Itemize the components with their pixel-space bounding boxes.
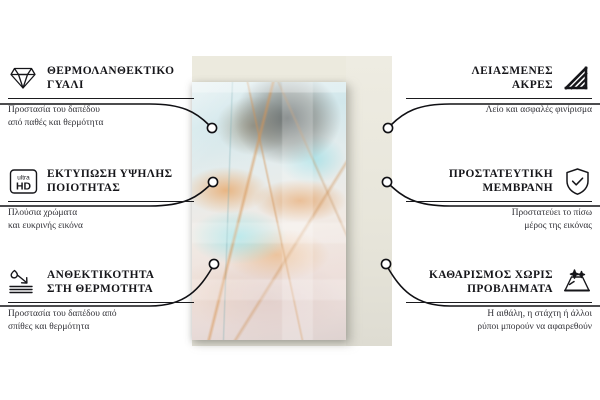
feature-header: ΘΕΡΜΟΛΑΝΘΕΚΤΙΚΟ ΓΥΑΛΙ xyxy=(8,62,194,94)
feature-description: Προστασία του δαπέδου από σπίθες και θερ… xyxy=(8,308,194,334)
feature-easy-cleaning: ΚΑΘΑΡΙΣΜΟΣ ΧΩΡΙΣ ΠΡΟΒΛΗΜΑΤΑ Η αιθάλη, η … xyxy=(406,266,592,334)
feature-divider xyxy=(8,302,194,303)
diamond-icon xyxy=(8,63,38,93)
product-glass-panel xyxy=(192,82,346,340)
feature-description: Πλούσια χρώματα και ευκρινής εικόνα xyxy=(8,207,194,233)
feature-heat-durability: ΑΝΘΕΚΤΙΚΟΤΗΤΑ ΣΤΗ ΘΕΡΜΟΤΗΤΑ Προστασία το… xyxy=(8,266,194,334)
feature-polished-edges: ΛΕΙΑΣΜΕΝΕΣ ΑΚΡΕΣ Λείο και ασφαλές φινίρι… xyxy=(406,62,592,117)
infographic-stage: ΘΕΡΜΟΛΑΝΘΕΚΤΙΚΟ ΓΥΑΛΙ Προστασία του δαπέ… xyxy=(0,0,600,400)
feature-title: ΠΡΟΣΤΑΤΕΥΤΙΚΗ ΜΕΜΒΡΑΝΗ xyxy=(449,167,553,196)
feature-description: Η αιθάλη, η στάχτη ή άλλοι ρύποι μπορούν… xyxy=(406,308,592,334)
feature-header: ΚΑΘΑΡΙΣΜΟΣ ΧΩΡΙΣ ΠΡΟΒΛΗΜΑΤΑ xyxy=(406,266,592,298)
feature-title: ΘΕΡΜΟΛΑΝΘΕΚΤΙΚΟ ΓΥΑΛΙ xyxy=(47,64,174,93)
polished-edges-icon xyxy=(562,63,592,93)
feature-divider xyxy=(406,302,592,303)
feature-header: ΛΕΙΑΣΜΕΝΕΣ ΑΚΡΕΣ xyxy=(406,62,592,94)
ultra-hd-icon-large-label: HD xyxy=(15,181,31,192)
feature-high-quality-print: ultra HD ΕΚΤΥΠΩΣΗ ΥΨΗΛΗΣ ΠΟΙΟΤΗΤΑΣ Πλούσ… xyxy=(8,165,194,233)
feature-header: ultra HD ΕΚΤΥΠΩΣΗ ΥΨΗΛΗΣ ΠΟΙΟΤΗΤΑΣ xyxy=(8,165,194,197)
feature-title: ΑΝΘΕΚΤΙΚΟΤΗΤΑ ΣΤΗ ΘΕΡΜΟΤΗΤΑ xyxy=(47,268,154,297)
easy-cleaning-icon xyxy=(562,267,592,297)
feature-header: ΑΝΘΕΚΤΙΚΟΤΗΤΑ ΣΤΗ ΘΕΡΜΟΤΗΤΑ xyxy=(8,266,194,298)
feature-description: Προστασία του δαπέδου από παθές και θερμ… xyxy=(8,104,194,130)
feature-header: ΠΡΟΣΤΑΤΕΥΤΙΚΗ ΜΕΜΒΡΑΝΗ xyxy=(406,165,592,197)
product-backdrop-right xyxy=(346,56,392,346)
heat-resistance-icon xyxy=(8,267,38,297)
feature-divider xyxy=(406,98,592,99)
shield-check-icon xyxy=(562,166,592,196)
feature-description: Προστατεύει το πίσω μέρος της εικόνας xyxy=(406,207,592,233)
feature-description: Λείο και ασφαλές φινίρισμα xyxy=(406,104,592,117)
feature-protective-membrane: ΠΡΟΣΤΑΤΕΥΤΙΚΗ ΜΕΜΒΡΑΝΗ Προστατεύει το πί… xyxy=(406,165,592,233)
feature-divider xyxy=(8,98,194,99)
feature-title: ΛΕΙΑΣΜΕΝΕΣ ΑΚΡΕΣ xyxy=(472,64,554,93)
feature-title: ΚΑΘΑΡΙΣΜΟΣ ΧΩΡΙΣ ΠΡΟΒΛΗΜΑΤΑ xyxy=(429,268,553,297)
feature-divider xyxy=(8,201,194,202)
feature-heat-resistant-glass: ΘΕΡΜΟΛΑΝΘΕΚΤΙΚΟ ΓΥΑΛΙ Προστασία του δαπέ… xyxy=(8,62,194,130)
ultra-hd-icon: ultra HD xyxy=(8,166,38,196)
feature-title: ΕΚΤΥΠΩΣΗ ΥΨΗΛΗΣ ΠΟΙΟΤΗΤΑΣ xyxy=(47,167,172,196)
feature-divider xyxy=(406,201,592,202)
product-glass-reflection xyxy=(192,82,346,340)
